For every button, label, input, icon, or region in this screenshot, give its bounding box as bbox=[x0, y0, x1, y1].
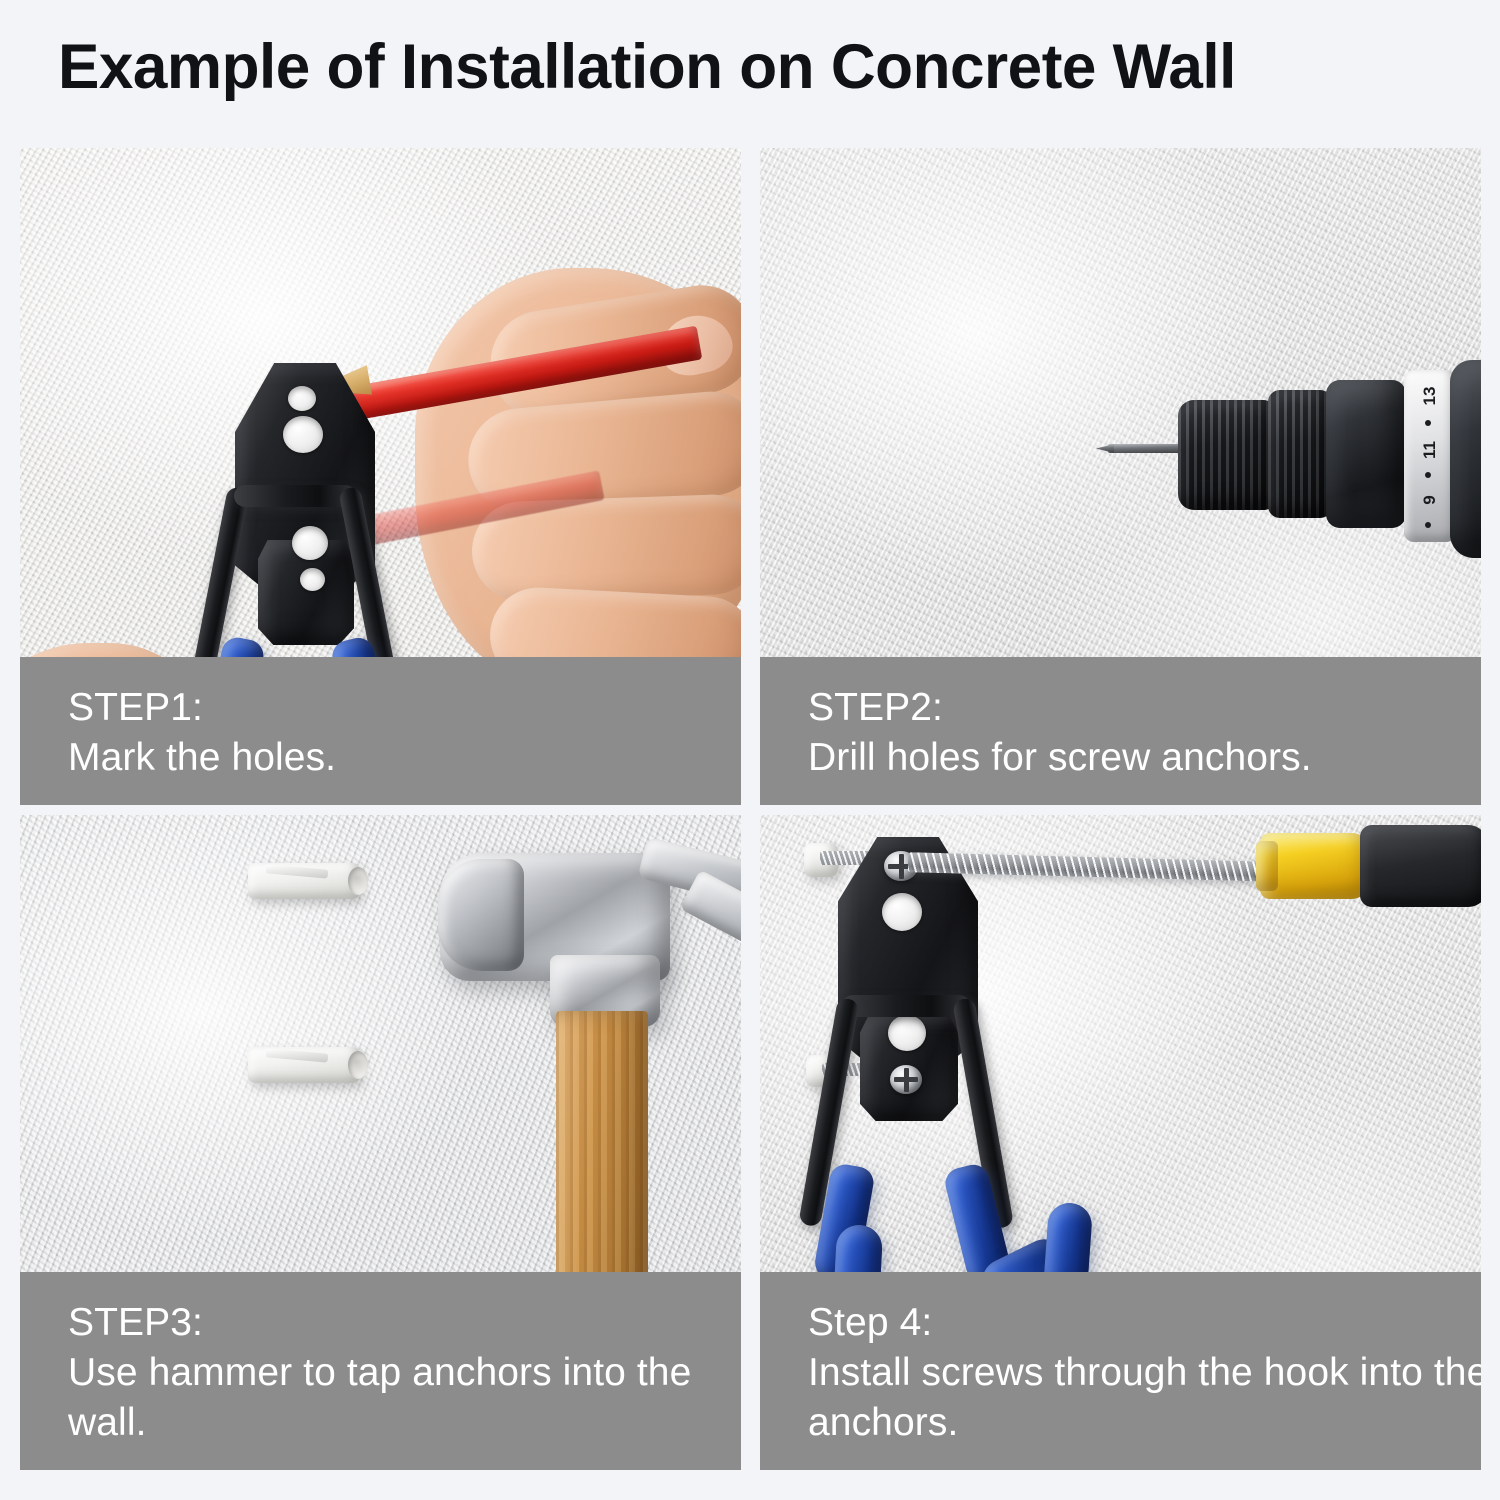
step-panel-1: STEP1: Mark the holes. bbox=[20, 148, 741, 805]
clutch-number-11: 11 bbox=[1420, 428, 1440, 472]
step-panel-3: STEP3: Use hammer to tap anchors into th… bbox=[20, 815, 741, 1470]
step-panel-2: 13 11 9 bbox=[760, 148, 1481, 805]
clutch-number-9: 9 bbox=[1420, 478, 1440, 522]
step-2-text: Drill holes for screw anchors. bbox=[808, 733, 1481, 783]
drill-gear-housing bbox=[1326, 380, 1406, 528]
step-4-text-line-2: anchors. bbox=[808, 1398, 1481, 1448]
drill-bit-tip bbox=[1096, 444, 1114, 453]
hook-hole-upper-mid bbox=[882, 893, 922, 931]
step-panel-4: Step 4: Install screws through the hook … bbox=[760, 815, 1481, 1470]
screwdriver-grip bbox=[1360, 825, 1481, 907]
step-4-label: Step 4: bbox=[808, 1298, 1481, 1348]
screwdriver-collar bbox=[1256, 841, 1278, 891]
step-3-label: STEP3: bbox=[68, 1298, 741, 1348]
drill-motor-body bbox=[1450, 360, 1481, 558]
step-3-caption: STEP3: Use hammer to tap anchors into th… bbox=[20, 1272, 741, 1470]
step-1-caption: STEP1: Mark the holes. bbox=[20, 657, 741, 805]
hook-arm-bridge bbox=[842, 995, 970, 1017]
drill-chuck-collar bbox=[1268, 390, 1332, 518]
step-2-caption: STEP2: Drill holes for screw anchors. bbox=[760, 657, 1481, 805]
step-2-label: STEP2: bbox=[808, 683, 1481, 733]
hook-hole-lower-mid bbox=[888, 1015, 926, 1051]
clutch-number-13: 13 bbox=[1420, 374, 1440, 418]
hook-hole-bottom bbox=[300, 568, 325, 591]
hammer-striking-face bbox=[438, 859, 524, 971]
clutch-dot-3 bbox=[1425, 522, 1431, 528]
step-3-text-line-1: Use hammer to tap anchors into the bbox=[68, 1348, 741, 1398]
steps-grid: STEP1: Mark the holes. 13 11 9 bbox=[20, 148, 1481, 1470]
screw-cross-bottom-v bbox=[904, 1068, 909, 1092]
page-title: Example of Installation on Concrete Wall bbox=[58, 32, 1437, 102]
hook-hole-top bbox=[288, 386, 316, 411]
clutch-dot-1 bbox=[1425, 420, 1431, 426]
wall-anchor-1-mouth bbox=[348, 867, 368, 895]
step-1-text: Mark the holes. bbox=[68, 733, 741, 783]
drill-chuck bbox=[1178, 400, 1274, 510]
wall-anchor-2-mouth bbox=[348, 1051, 368, 1079]
step-4-text-line-1: Install screws through the hook into the bbox=[808, 1348, 1481, 1398]
step-1-label: STEP1: bbox=[68, 683, 741, 733]
hook-arm-bridge bbox=[234, 485, 356, 507]
step-4-caption: Step 4: Install screws through the hook … bbox=[760, 1272, 1481, 1470]
hook-hole-upper-mid bbox=[283, 416, 323, 453]
step-3-text-line-2: wall. bbox=[68, 1398, 741, 1448]
hook-hole-lower-mid bbox=[292, 526, 328, 560]
screw-cross-top-v bbox=[899, 854, 904, 879]
drill-bit bbox=[1108, 444, 1186, 453]
